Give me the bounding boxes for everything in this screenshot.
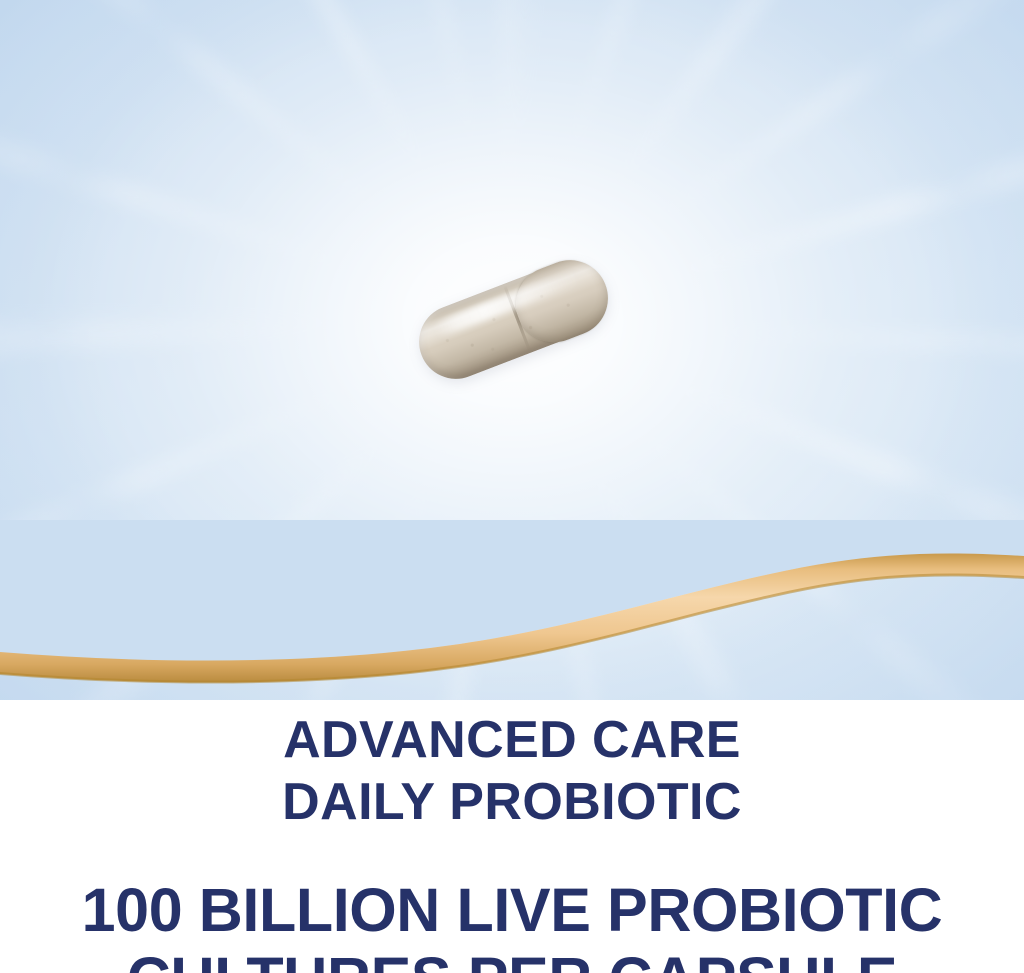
capsule-body	[408, 250, 618, 389]
product-hero-image: ADVANCED CARE DAILY PROBIOTIC 100 BILLIO…	[0, 0, 1024, 973]
product-claim: 100 BILLION LIVE PROBIOTIC CULTURES PER …	[0, 828, 1024, 973]
product-claim-line-2: CULTURES PER CAPSULE	[0, 941, 1024, 973]
product-title-line-2: DAILY PROBIOTIC	[0, 766, 1024, 828]
product-claim-line-1: 100 BILLION LIVE PROBIOTIC	[82, 876, 943, 944]
product-title-line-1: ADVANCED CARE	[283, 711, 741, 769]
gold-wave-divider	[0, 520, 1024, 710]
headline-block: ADVANCED CARE DAILY PROBIOTIC 100 BILLIO…	[0, 700, 1024, 973]
product-title: ADVANCED CARE DAILY PROBIOTIC	[0, 700, 1024, 828]
probiotic-capsule-image	[412, 261, 614, 379]
